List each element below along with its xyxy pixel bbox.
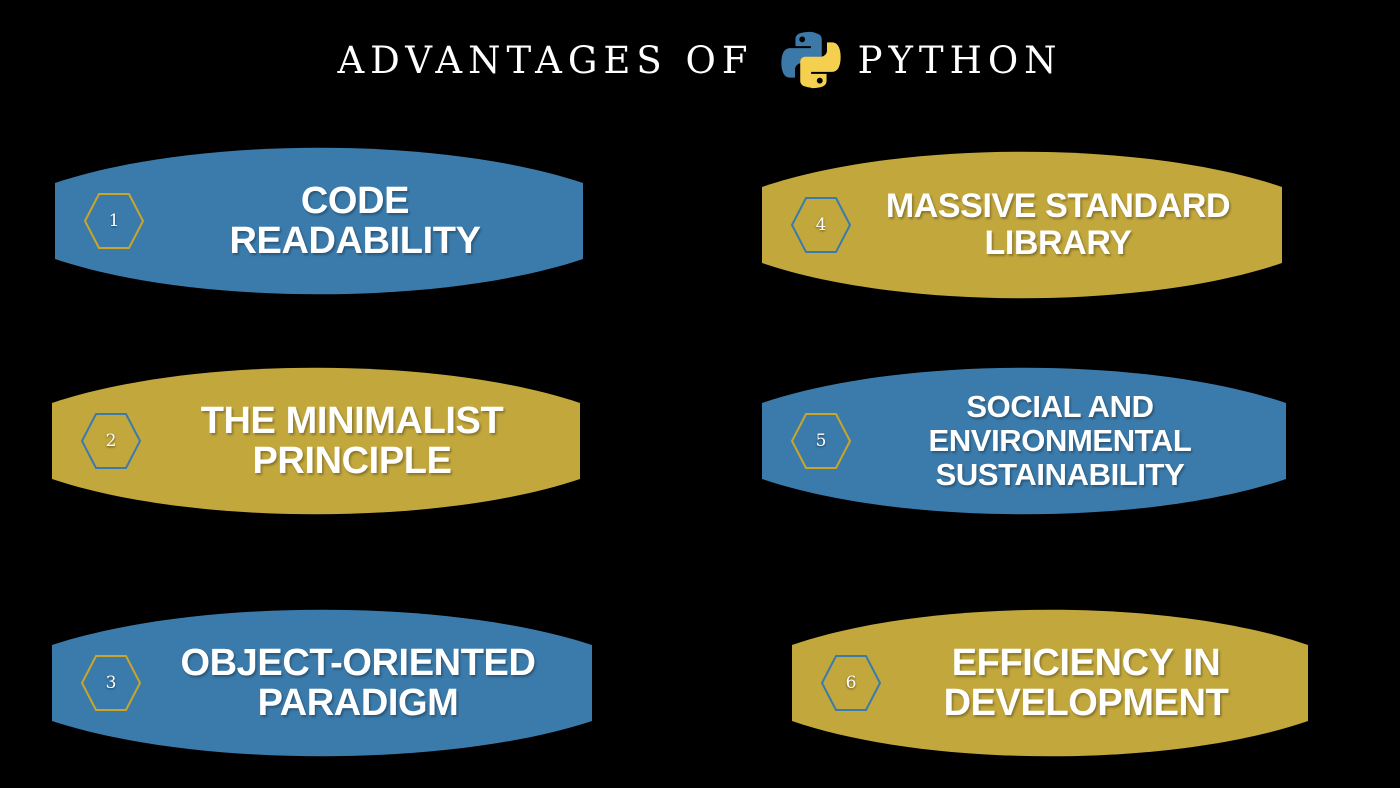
step-number: 2 xyxy=(106,433,117,450)
advantages-list: 1 CODE READABILITY 2 THE MINIMALIST PRIN… xyxy=(0,120,1400,788)
advantage-label-1: CODE READABILITY xyxy=(145,181,583,262)
step-badge-1: 1 xyxy=(83,190,145,252)
advantage-label-4: MASSIVE STANDARD LIBRARY xyxy=(852,188,1282,261)
step-badge-6: 6 xyxy=(820,652,882,714)
step-badge-2: 2 xyxy=(80,410,142,472)
header: ADVANTAGES OF PYTHON xyxy=(0,0,1400,120)
step-number: 3 xyxy=(106,675,117,692)
advantage-label-5: SOCIAL AND ENVIRONMENTAL SUSTAINABILITY xyxy=(852,390,1286,492)
advantage-item-6[interactable]: 6 EFFICIENCY IN DEVELOPMENT xyxy=(792,598,1308,768)
step-badge-4: 4 xyxy=(790,194,852,256)
step-badge-3: 3 xyxy=(80,652,142,714)
advantage-item-2[interactable]: 2 THE MINIMALIST PRINCIPLE xyxy=(52,356,580,526)
advantage-label-2: THE MINIMALIST PRINCIPLE xyxy=(142,401,580,482)
advantage-label-6: EFFICIENCY IN DEVELOPMENT xyxy=(882,643,1308,724)
advantage-label-3: OBJECT-ORIENTED PARADIGM xyxy=(142,643,592,724)
step-number: 1 xyxy=(109,213,120,230)
step-number: 4 xyxy=(816,217,827,234)
python-logo-icon xyxy=(780,29,842,91)
advantage-item-3[interactable]: 3 OBJECT-ORIENTED PARADIGM xyxy=(52,598,592,768)
page-title-left: ADVANTAGES OF xyxy=(337,42,753,79)
advantage-item-4[interactable]: 4 MASSIVE STANDARD LIBRARY xyxy=(762,140,1282,310)
step-number: 5 xyxy=(816,433,827,450)
step-number: 6 xyxy=(846,675,857,692)
step-badge-5: 5 xyxy=(790,410,852,472)
advantage-item-5[interactable]: 5 SOCIAL AND ENVIRONMENTAL SUSTAINABILIT… xyxy=(762,356,1286,526)
page-title-right: PYTHON xyxy=(858,42,1063,79)
advantage-item-1[interactable]: 1 CODE READABILITY xyxy=(55,136,583,306)
